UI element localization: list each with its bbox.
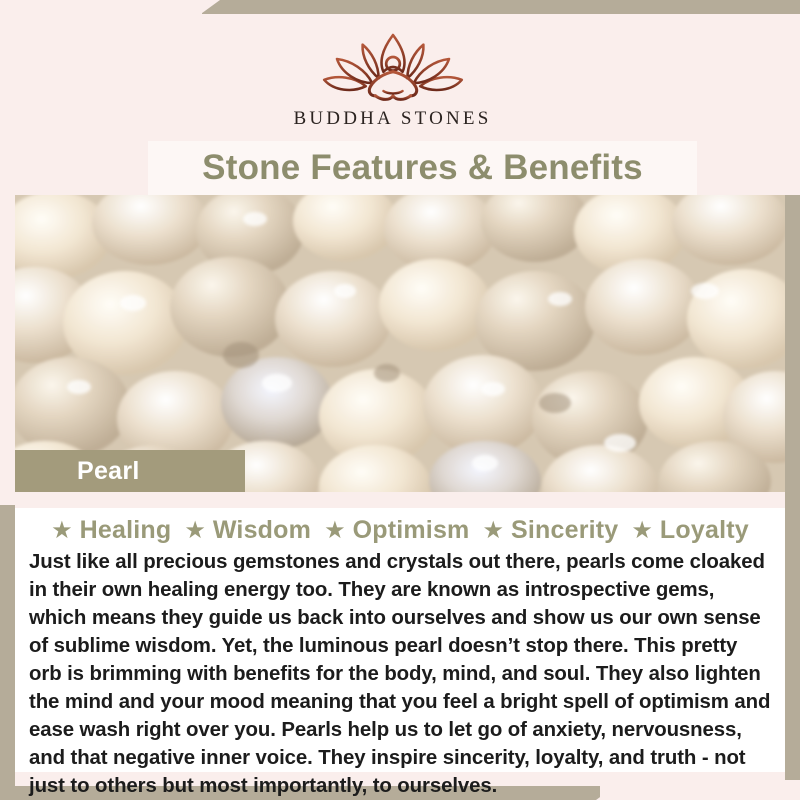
stone-name: Pearl xyxy=(77,457,140,486)
brand-header: BUDDHA STONES xyxy=(0,14,785,138)
star-icon: ★ xyxy=(51,519,73,543)
benefit-label: Loyalty xyxy=(660,516,749,545)
pearl-photo xyxy=(15,195,785,492)
brand-name: BUDDHA STONES xyxy=(293,108,491,130)
benefit-item: ★ Loyalty xyxy=(631,516,748,545)
infographic-page: BUDDHA STONES Stone Features & Benefits xyxy=(0,0,800,800)
star-icon: ★ xyxy=(324,519,346,543)
star-icon: ★ xyxy=(631,519,653,543)
page-title: Stone Features & Benefits xyxy=(202,148,643,188)
benefit-item: ★ Wisdom xyxy=(184,516,311,545)
pearl-photo-graphic xyxy=(15,195,785,492)
benefit-label: Optimism xyxy=(353,516,470,545)
benefit-label: Healing xyxy=(80,516,172,545)
star-icon: ★ xyxy=(482,519,504,543)
stone-description: Just like all precious gemstones and cry… xyxy=(29,549,771,800)
benefit-item: ★ Optimism xyxy=(324,516,469,545)
benefit-item: ★ Sincerity xyxy=(482,516,618,545)
benefits-list: ★ Healing ★ Wisdom ★ Optimism ★ Sincerit… xyxy=(29,516,771,545)
title-banner: Stone Features & Benefits xyxy=(148,141,697,195)
benefit-item: ★ Healing xyxy=(51,516,171,545)
star-icon: ★ xyxy=(184,519,206,543)
lotus-meditation-figure-icon xyxy=(313,30,473,104)
benefit-label: Wisdom xyxy=(213,516,311,545)
benefit-label: Sincerity xyxy=(511,516,618,545)
content-panel: ★ Healing ★ Wisdom ★ Optimism ★ Sincerit… xyxy=(15,508,785,772)
stone-name-bar: Pearl xyxy=(15,450,245,492)
